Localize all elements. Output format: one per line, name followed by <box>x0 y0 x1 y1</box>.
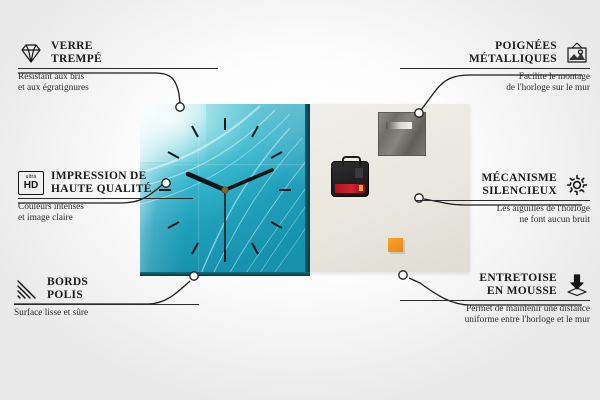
diamond-icon <box>18 41 44 65</box>
callout-title-line1: MÉCANISME <box>481 172 557 185</box>
callout-title-line1: ENTRETOISE <box>479 272 557 285</box>
callout-title-line1: POIGNÉES <box>469 40 557 53</box>
gear-icon <box>564 173 590 197</box>
plate-slot <box>386 122 412 129</box>
callout-desc-line2: uniforme entre l'horloge et le mur <box>400 315 590 326</box>
callout-title-line1: IMPRESSION DE <box>51 170 152 183</box>
battery <box>335 184 365 193</box>
callout-title-line2: TREMPÉ <box>51 53 102 66</box>
callout-desc-line1: Surface lisse et sûre <box>14 308 199 319</box>
callout-desc-line1: Résistant aux bris <box>18 72 218 83</box>
callout-entretoise-en-mousse: ENTRETOISE EN MOUSSE Permet de maintenir… <box>400 272 590 326</box>
callout-title-line2: MÉTALLIQUES <box>469 53 557 66</box>
callout-desc-line1: Couleurs intenses <box>18 202 193 213</box>
callout-desc-line1: Facilite le montage <box>400 72 590 83</box>
badge-ultra-text: ultra <box>26 175 37 180</box>
callout-desc-line1: Permet de maintenir une distance <box>400 304 590 315</box>
callout-title-line1: BORDS <box>47 276 88 289</box>
callout-rule <box>415 200 590 201</box>
callout-poignees-metalliques: POIGNÉES MÉTALLIQUES Facilite le montage… <box>400 40 590 94</box>
callout-mecanisme-silencieux: MÉCANISME SILENCIEUX Les aiguilles de l'… <box>415 172 590 226</box>
callout-desc-line2: ne font aucun bruit <box>415 215 590 226</box>
polished-edge-icon <box>14 277 40 301</box>
callout-desc-line1: Les aiguilles de l'horloge <box>415 204 590 215</box>
callout-rule <box>14 304 199 305</box>
ultra-hd-badge-icon: ultra HD <box>18 171 44 195</box>
product-infographic: VERRE TREMPÉ Résistant aux bris et aux é… <box>0 0 600 400</box>
callout-title-line2: HAUTE QUALITÉ <box>51 183 152 196</box>
foam-spacer <box>388 238 403 252</box>
callout-title-line1: VERRE <box>51 40 102 53</box>
callout-title-line2: POLIS <box>47 289 88 302</box>
mechanism-hanger <box>342 156 361 166</box>
callout-desc-line2: et image claire <box>18 213 193 224</box>
clock-center-cap <box>222 187 228 193</box>
callout-rule <box>18 68 218 69</box>
clock-mechanism-box <box>331 161 369 197</box>
clock-minute-hand <box>225 170 272 190</box>
callout-rule <box>400 68 590 69</box>
press-down-arrow-icon <box>564 273 590 297</box>
callout-verre-trempe: VERRE TREMPÉ Résistant aux bris et aux é… <box>18 40 218 94</box>
mechanism-dial <box>355 168 363 178</box>
picture-frame-hanging-icon <box>564 41 590 65</box>
callout-bords-polis: BORDS POLIS Surface lisse et sûre <box>14 276 199 319</box>
callout-impression-haute-qualite: ultra HD IMPRESSION DE HAUTE QUALITÉ Cou… <box>18 170 193 224</box>
callout-title-line2: EN MOUSSE <box>479 285 557 298</box>
callout-rule <box>400 300 590 301</box>
callout-rule <box>18 198 193 199</box>
callout-desc-line2: de l'horloge sur le mur <box>400 83 590 94</box>
metallic-hanging-plate <box>378 112 426 156</box>
clock-hour-hand <box>188 174 225 190</box>
callout-desc-line2: et aux égratignures <box>18 83 218 94</box>
callout-title-line2: SILENCIEUX <box>481 185 557 198</box>
badge-hd-text: HD <box>24 181 38 191</box>
